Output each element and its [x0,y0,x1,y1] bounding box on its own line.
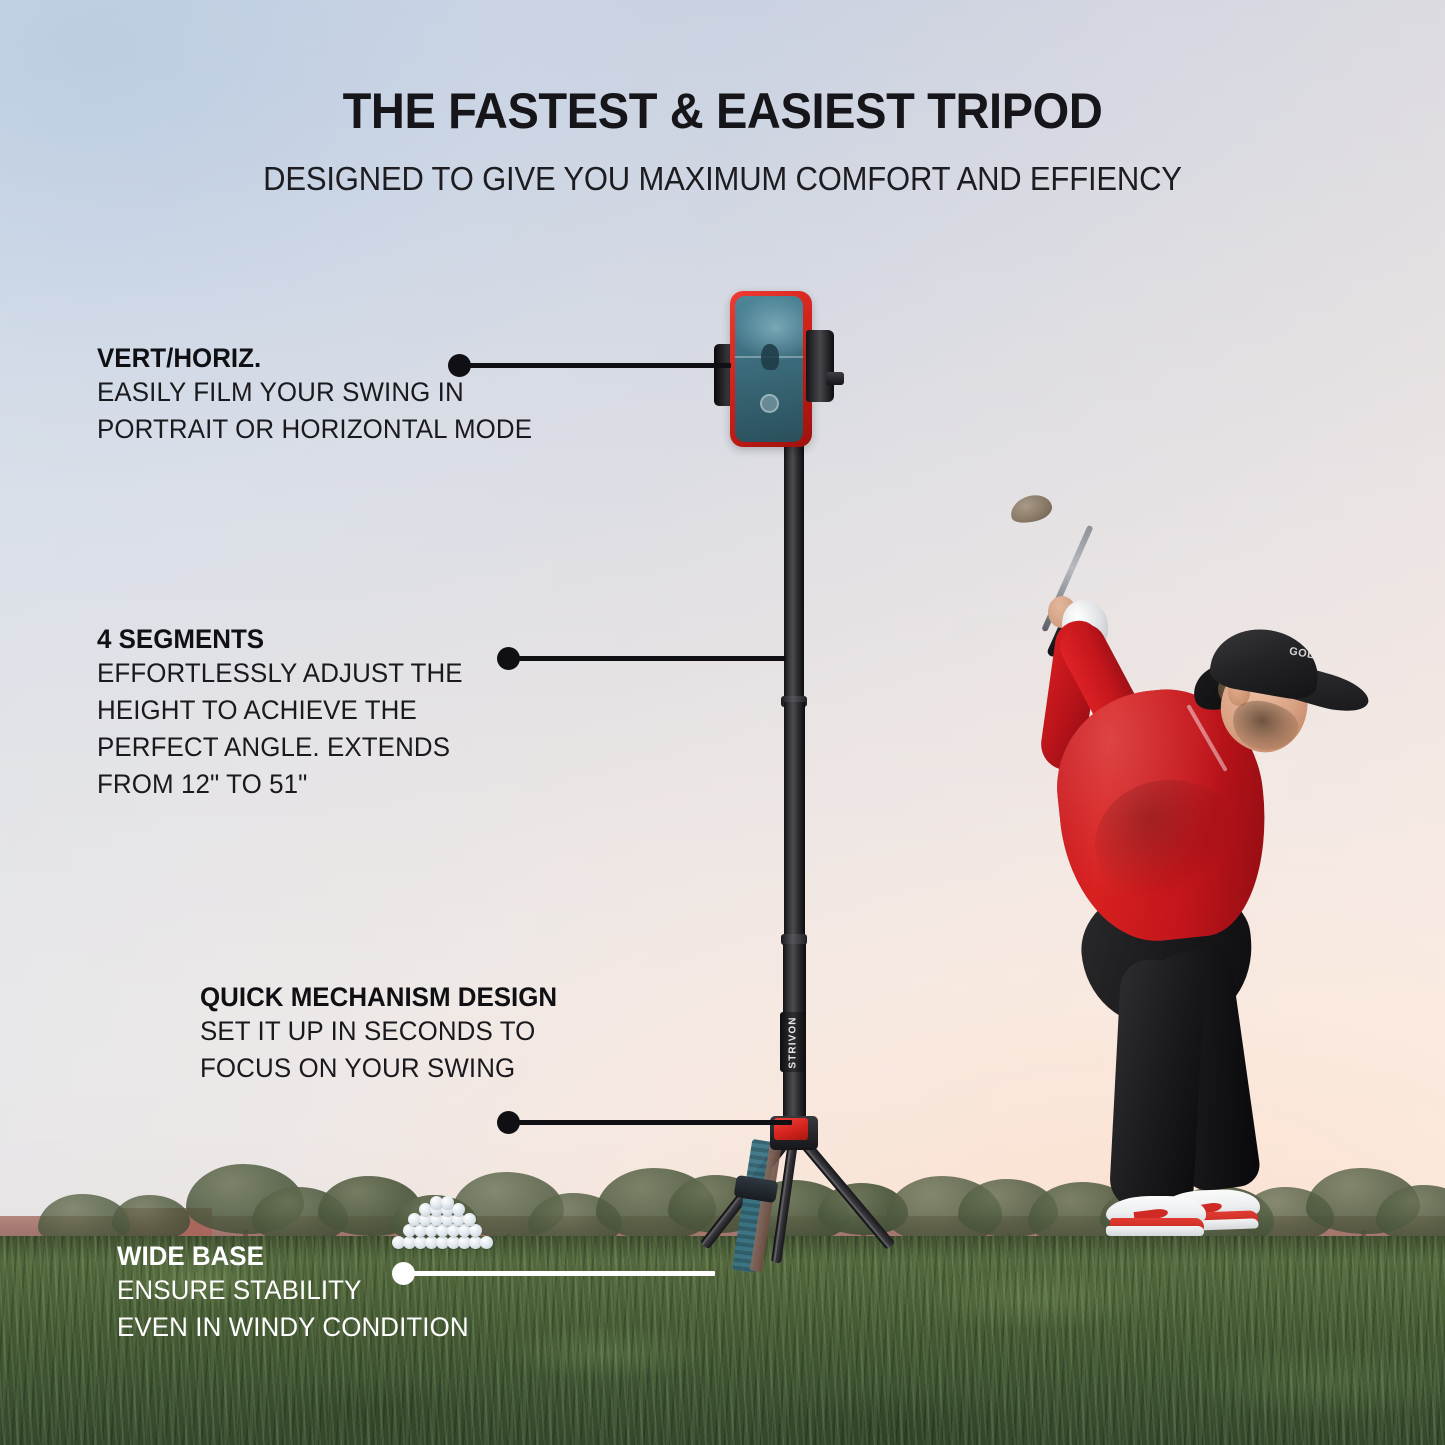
callout-line: PORTRAIT OR HORIZONTAL MODE [97,411,532,448]
callout-segments: 4 SEGMENTS EFFORTLESSLY ADJUST THE HEIGH… [97,625,478,804]
clamp-tighten-knob[interactable] [826,372,844,385]
golf-ball [452,1203,465,1216]
tripod-pole-segment-1 [784,440,804,702]
callout-line: ENSURE STABILITY [117,1272,469,1309]
golfer-torso-shading [1095,780,1245,910]
page-subtitle: DESIGNED TO GIVE YOU MAXIMUM COMFORT AND… [43,160,1401,198]
brand-plate: STRIVON [780,1012,806,1072]
callout-heading: WIDE BASE [117,1242,469,1272]
golf-ball-pile [386,1196,496,1248]
phone-screen [735,296,803,442]
golfer-shoe-front [1106,1196,1206,1236]
golfer-front-leg [1109,958,1206,1212]
callout-line: EVEN IN WINDY CONDITION [117,1309,469,1346]
callout-line: HEIGHT TO ACHIEVE THE [97,692,463,729]
callout-vert-horiz: VERT/HORIZ. EASILY FILM YOUR SWING IN PO… [97,344,550,448]
page-title: THE FASTEST & EASIEST TRIPOD [43,82,1401,140]
callout-heading: VERT/HORIZ. [97,344,532,374]
shoe-outsole [1106,1226,1204,1236]
callout-line: FROM 12" TO 51" [97,766,463,803]
callout-line: EASILY FILM YOUR SWING IN [97,374,532,411]
callout-heading: 4 SEGMENTS [97,625,463,655]
leader-bar [514,1120,792,1125]
callout-quick-mechanism: QUICK MECHANISM DESIGN SET IT UP IN SECO… [200,983,572,1087]
infographic-canvas: GOLF STRIVON [0,0,1445,1445]
screen-subject [761,344,779,370]
leader-bar [514,656,786,661]
tree [112,1195,190,1241]
callout-line: SET IT UP IN SECONDS TO [200,1013,557,1050]
golf-ball [469,1224,482,1237]
golf-ball [463,1213,476,1226]
callout-line: EFFORTLESSLY ADJUST THE [97,655,463,692]
tripod-pole-segment-2 [784,702,805,938]
leader-dot [497,1111,520,1134]
phone-clamp-right[interactable] [806,330,834,402]
callout-wide-base: WIDE BASE ENSURE STABILITY EVEN IN WINDY… [117,1242,483,1346]
callout-heading: QUICK MECHANISM DESIGN [200,983,557,1013]
brand-name: STRIVON [788,1016,799,1068]
screen-record-button[interactable] [760,394,779,413]
callout-line: FOCUS ON YOUR SWING [200,1050,557,1087]
golf-ball [441,1196,454,1209]
leader-dot [497,647,520,670]
callout-line: PERFECT ANGLE. EXTENDS [97,729,463,766]
